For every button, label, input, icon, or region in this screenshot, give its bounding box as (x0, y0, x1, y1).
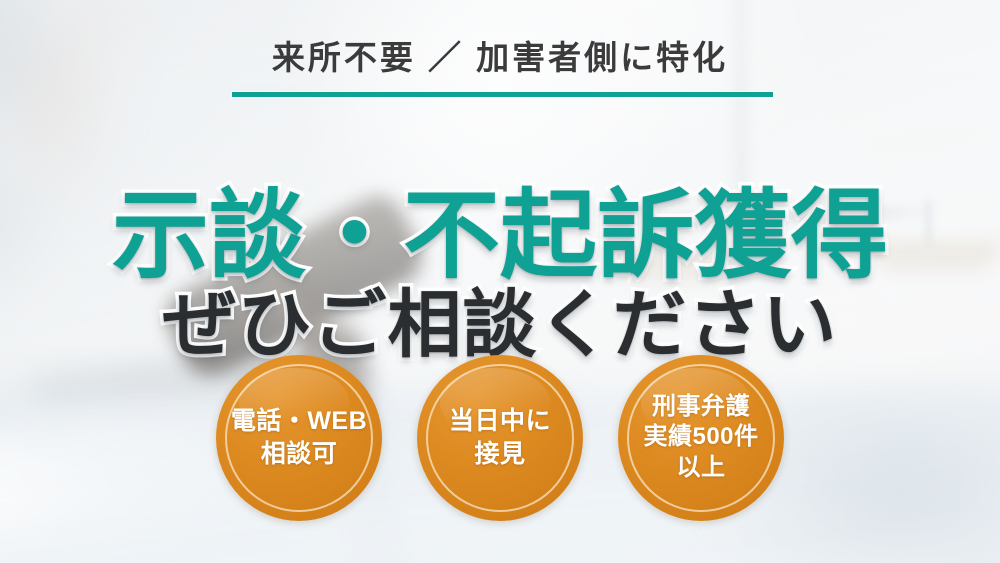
badge-label: 当日中に 接見 (449, 405, 551, 470)
headline: 示談・不起訴獲得 (0, 187, 1000, 286)
badge-same-day-visit[interactable]: 当日中に 接見 (417, 355, 583, 521)
badge-label: 刑事弁護 実績500件 以上 (643, 392, 758, 483)
badge-list: 電話・WEB 相談可 当日中に 接見 刑事弁護 実績500件 以上 (0, 350, 1000, 525)
banner-content: 来所不要 ／ 加害者側に特化 示談・不起訴獲得 ぜひご相談ください 電話・WEB… (0, 0, 1000, 563)
eyebrow-text: 来所不要 ／ 加害者側に特化 (0, 38, 1000, 78)
accent-divider (232, 92, 773, 97)
badge-label: 電話・WEB 相談可 (231, 405, 367, 470)
badge-case-record[interactable]: 刑事弁護 実績500件 以上 (618, 355, 784, 521)
hero-banner: 来所不要 ／ 加害者側に特化 示談・不起訴獲得 ぜひご相談ください 電話・WEB… (0, 0, 1000, 563)
badge-phone-web[interactable]: 電話・WEB 相談可 (216, 355, 382, 521)
